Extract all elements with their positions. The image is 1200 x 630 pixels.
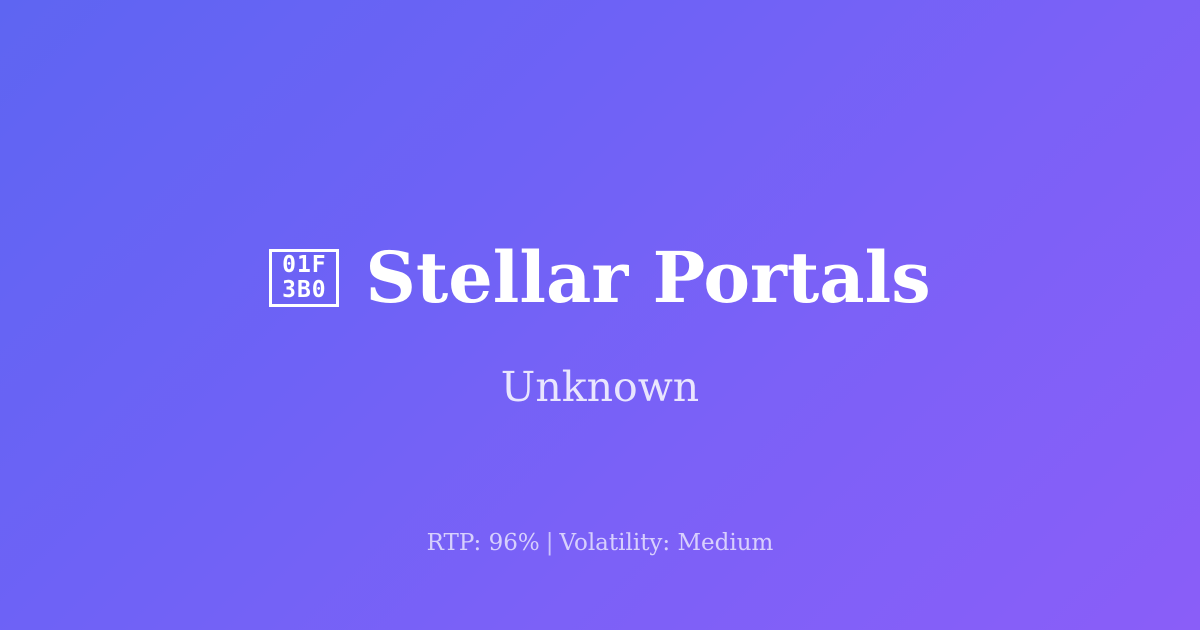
page-subtitle: Unknown: [0, 362, 1200, 412]
volatility-value: Volatility: Medium: [559, 530, 773, 556]
rtp-value: RTP: 96%: [427, 530, 540, 556]
meta-separator: |: [540, 530, 560, 556]
codepoint-bottom: 3B0: [282, 278, 327, 303]
page-title: Stellar Portals: [365, 236, 930, 320]
game-meta-line: RTP: 96%|Volatility: Medium: [0, 528, 1200, 558]
slot-machine-icon: 01F 3B0: [269, 249, 339, 307]
title-row: 01F 3B0 Stellar Portals: [0, 232, 1200, 324]
game-promo-card: 01F 3B0 Stellar Portals Unknown RTP: 96%…: [0, 0, 1200, 630]
codepoint-top: 01F: [282, 253, 327, 278]
